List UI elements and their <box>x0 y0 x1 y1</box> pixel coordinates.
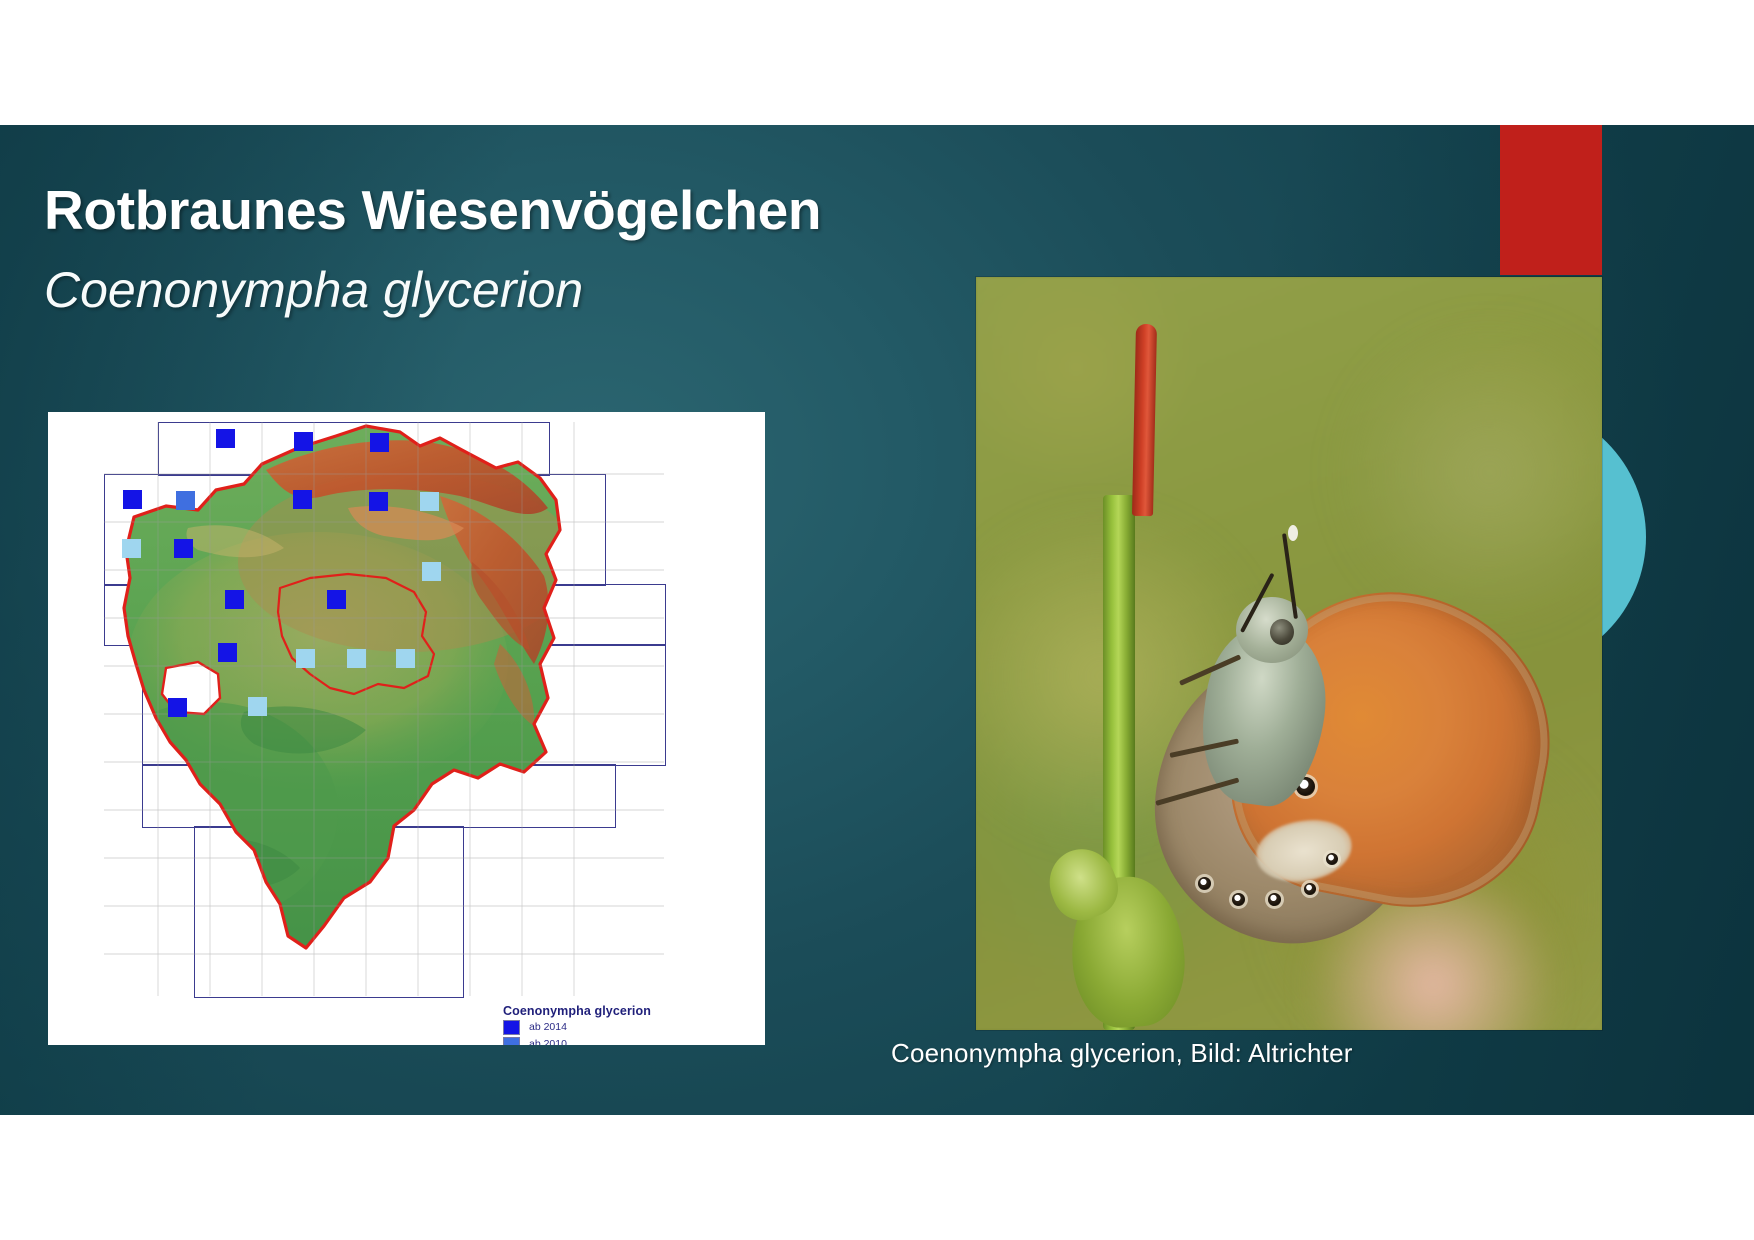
slide-canvas: Rotbraunes Wiesenvögelchen Coenonympha g… <box>0 125 1754 1115</box>
map-record-square <box>293 490 312 509</box>
map-record-square <box>370 433 389 452</box>
map-record-square <box>176 491 195 510</box>
map-terrain <box>48 412 765 1045</box>
butterfly-eyespot <box>1268 893 1281 906</box>
butterfly-eyespot <box>1232 893 1245 906</box>
map-legend-swatch <box>503 1037 520 1046</box>
map-record-square <box>369 492 388 511</box>
butterfly-eye <box>1270 619 1294 645</box>
map-record-square <box>294 432 313 451</box>
distribution-map-panel: Coenonympha glycerion ab 2014ab 2010ab 1… <box>48 412 765 1045</box>
map-record-square <box>216 429 235 448</box>
map-legend-swatch <box>503 1020 520 1035</box>
map-legend-row: ab 2010 <box>503 1036 703 1045</box>
map-record-square <box>218 643 237 662</box>
map-record-square <box>347 649 366 668</box>
map-record-square <box>123 490 142 509</box>
plant-stem-red-tip <box>1132 324 1157 516</box>
photo-caption: Coenonympha glycerion, Bild: Altrichter <box>891 1038 1353 1069</box>
map-record-square <box>296 649 315 668</box>
page-subtitle: Coenonympha glycerion <box>44 261 583 319</box>
map-record-square <box>396 649 415 668</box>
butterfly <box>1128 505 1548 1005</box>
butterfly-antenna-club <box>1288 525 1298 541</box>
map-record-square <box>225 590 244 609</box>
map-record-square <box>174 539 193 558</box>
map-record-square <box>422 562 441 581</box>
butterfly-eyespot <box>1326 853 1338 865</box>
butterfly-eyespot <box>1304 883 1316 895</box>
map-legend-rows: ab 2014ab 2010ab 1988bis 1988 <box>503 1019 703 1045</box>
map-legend-title: Coenonympha glycerion <box>503 1004 703 1018</box>
map-legend-label: ab 2014 <box>529 1021 567 1033</box>
map-legend: Coenonympha glycerion ab 2014ab 2010ab 1… <box>503 1004 703 1045</box>
map-record-square <box>168 698 187 717</box>
map-record-square <box>327 590 346 609</box>
map-record-square <box>420 492 439 511</box>
butterfly-photo <box>976 277 1602 1030</box>
map-legend-row: ab 2014 <box>503 1019 703 1035</box>
map-canvas: Coenonympha glycerion ab 2014ab 2010ab 1… <box>48 412 765 1045</box>
map-legend-label: ab 2010 <box>529 1038 567 1045</box>
butterfly-eyespot <box>1198 877 1211 890</box>
red-block-decoration <box>1500 125 1602 275</box>
page-title: Rotbraunes Wiesenvögelchen <box>44 178 821 242</box>
map-record-square <box>122 539 141 558</box>
map-record-square <box>248 697 267 716</box>
